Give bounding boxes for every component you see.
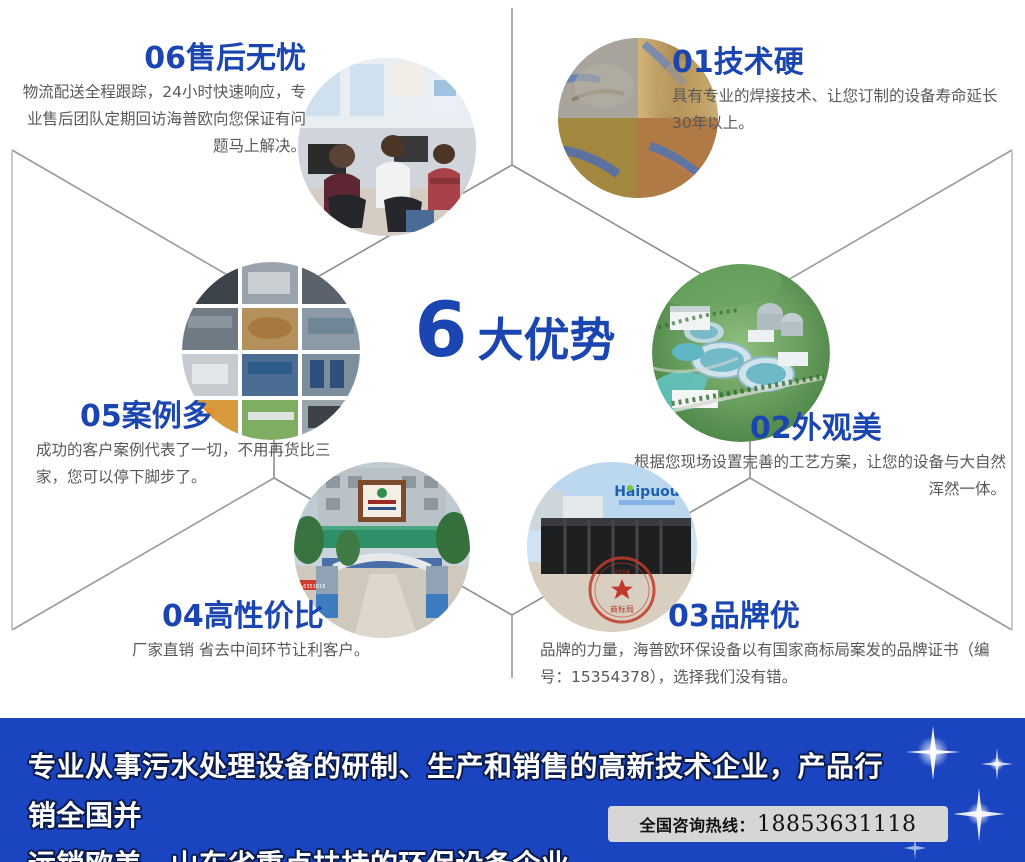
feature-brand-number: 03 xyxy=(668,599,710,634)
feature-cases-number: 05 xyxy=(80,399,122,434)
feature-brand-title: 03品牌优 xyxy=(540,600,1000,634)
svg-text:Haipuou: Haipuou xyxy=(614,484,680,500)
feature-cost-performance-title: 04高性价比 xyxy=(96,600,396,634)
hotline-label: 全国咨询热线： xyxy=(640,812,756,836)
feature-cases-desc: 成功的客户案例代表了一切，不用再货比三家，您可以停下脚步了。 xyxy=(36,437,336,491)
feature-brand-text: 品牌优 xyxy=(710,599,800,634)
feature-cases: 05案例多 成功的客户案例代表了一切，不用再货比三家，您可以停下脚步了。 xyxy=(36,400,336,491)
feature-cost-performance: 04高性价比 厂家直销 省去中间环节让利客户。 xyxy=(96,600,396,664)
feature-technology: 01技术硬 具有专业的焊接技术、让您订制的设备寿命延长30年以上。 xyxy=(672,46,1002,137)
infographic-page: 06售后无忧 物流配送全程跟踪，24小时快速响应，专业售后团队定期回访海普欧向您… xyxy=(0,0,1025,862)
hotline-badge[interactable]: 全国咨询热线： 18853631118 xyxy=(608,806,948,842)
photo-office-staff xyxy=(298,58,476,236)
feature-brand-desc: 品牌的力量，海普欧环保设备以有国家商标局案发的品牌证书（编号：15354378）… xyxy=(540,637,1000,691)
feature-appearance-text: 外观美 xyxy=(792,411,882,446)
feature-after-sales-title: 06售后无忧 xyxy=(14,42,306,76)
banner-text: 专业从事污水处理设备的研制、生产和销售的高新技术企业，产品行销全国并 远销欧美，… xyxy=(28,742,908,862)
feature-after-sales-desc: 物流配送全程跟踪，24小时快速响应，专业售后团队定期回访海普欧向您保证有问题马上… xyxy=(14,79,306,160)
feature-cost-performance-desc: 厂家直销 省去中间环节让利客户。 xyxy=(96,637,396,664)
svg-text:2014: 2014 xyxy=(614,569,629,576)
feature-technology-number: 01 xyxy=(672,45,714,80)
feature-appearance: 02外观美 根据您现场设置完善的工艺方案，让您的设备与大自然浑然一体。 xyxy=(620,412,1006,503)
center-label: 大优势 xyxy=(477,312,615,368)
feature-after-sales: 06售后无忧 物流配送全程跟踪，24小时快速响应，专业售后团队定期回访海普欧向您… xyxy=(14,42,306,160)
feature-appearance-number: 02 xyxy=(750,411,792,446)
center-number: 6 xyxy=(415,292,468,368)
feature-technology-title: 01技术硬 xyxy=(672,46,1002,80)
feature-technology-desc: 具有专业的焊接技术、让您订制的设备寿命延长30年以上。 xyxy=(672,83,1002,137)
hotline-number: 18853631118 xyxy=(757,812,916,837)
center-headline: 6 大优势 xyxy=(390,292,640,382)
feature-cases-text: 案例多 xyxy=(122,399,212,434)
feature-appearance-title: 02外观美 xyxy=(620,412,1006,446)
feature-cost-performance-number: 04 xyxy=(162,599,204,634)
feature-after-sales-text: 售后无忧 xyxy=(186,41,306,76)
feature-cases-title: 05案例多 xyxy=(36,400,336,434)
feature-brand: 03品牌优 品牌的力量，海普欧环保设备以有国家商标局案发的品牌证书（编号：153… xyxy=(540,600,1000,691)
banner-line-2: 远销欧美，山东省重点扶持的环保设备企业。 xyxy=(28,840,908,862)
feature-cost-performance-text: 高性价比 xyxy=(204,599,324,634)
feature-technology-text: 技术硬 xyxy=(714,45,804,80)
feature-after-sales-number: 06 xyxy=(144,41,186,76)
